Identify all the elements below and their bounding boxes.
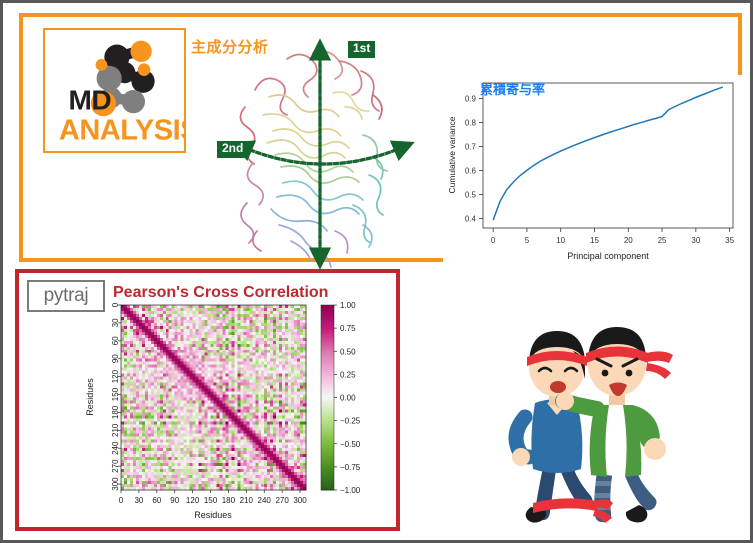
variance-plot-frame	[483, 83, 733, 228]
svg-text:150: 150	[111, 387, 120, 401]
variance-y-tick-labels: 0.40.50.60.70.80.9	[465, 95, 483, 224]
left-person	[512, 331, 593, 523]
svg-text:30: 30	[691, 236, 700, 245]
svg-text:10: 10	[556, 236, 565, 245]
svg-text:120: 120	[186, 496, 200, 505]
svg-text:0.8: 0.8	[465, 119, 477, 128]
variance-x-tick-labels: 05101520253035	[491, 228, 735, 245]
pca-panel: MD ANALYSIS 主成分分析	[19, 13, 742, 262]
svg-text:0.00: 0.00	[340, 394, 356, 403]
second-pc-label: 2nd	[217, 141, 248, 158]
svg-text:180: 180	[111, 405, 120, 419]
svg-text:300: 300	[111, 477, 120, 491]
cumulative-variance-jp-label: 累積寄与率	[480, 79, 545, 98]
svg-text:30: 30	[111, 318, 120, 327]
svg-text:0: 0	[111, 302, 120, 307]
mdanalysis-analysis-text: ANALYSIS	[59, 114, 184, 146]
svg-text:60: 60	[111, 336, 120, 345]
heatmap-y-axis-label: Residues	[85, 378, 95, 416]
svg-text:150: 150	[204, 496, 218, 505]
svg-text:0.5: 0.5	[465, 190, 477, 199]
svg-text:−0.75: −0.75	[340, 463, 361, 472]
svg-text:1.00: 1.00	[340, 301, 356, 310]
svg-text:0.75: 0.75	[340, 324, 356, 333]
svg-text:0.4: 0.4	[465, 214, 477, 223]
svg-text:0.7: 0.7	[465, 143, 477, 152]
cumulative-variance-chart: 0.40.50.60.70.80.9 05101520253035 Princi…	[443, 75, 753, 267]
svg-text:90: 90	[170, 496, 179, 505]
svg-text:210: 210	[240, 496, 254, 505]
svg-text:−1.00: −1.00	[340, 486, 361, 495]
svg-text:0: 0	[119, 496, 124, 505]
svg-text:120: 120	[111, 369, 120, 383]
heatmap-cells	[121, 305, 306, 490]
svg-text:0.25: 0.25	[340, 370, 356, 379]
svg-text:90: 90	[111, 354, 120, 363]
svg-text:270: 270	[275, 496, 289, 505]
svg-text:−0.25: −0.25	[340, 417, 361, 426]
right-person-fist	[644, 438, 666, 460]
svg-text:270: 270	[111, 459, 120, 473]
three-legged-race-illustration	[473, 299, 718, 531]
first-pc-label: 1st	[348, 41, 375, 58]
svg-text:0.9: 0.9	[465, 95, 477, 104]
svg-text:240: 240	[258, 496, 272, 505]
svg-text:0.6: 0.6	[465, 166, 477, 175]
svg-text:60: 60	[152, 496, 161, 505]
mdanalysis-md-text: MD	[69, 84, 112, 115]
svg-text:35: 35	[725, 236, 734, 245]
mdanalysis-logo: MD ANALYSIS	[43, 28, 186, 153]
cross-correlation-heatmap: 0306090120150180210240270300 03060901201…	[81, 299, 381, 527]
heatmap-colorbar	[321, 305, 334, 491]
svg-text:25: 25	[658, 236, 667, 245]
svg-text:15: 15	[590, 236, 599, 245]
svg-text:5: 5	[525, 236, 530, 245]
heatmap-y-tick-labels: 0306090120150180210240270300	[111, 302, 121, 490]
svg-text:0.50: 0.50	[340, 347, 356, 356]
svg-text:0: 0	[491, 236, 496, 245]
slide-canvas: MD ANALYSIS 主成分分析	[0, 0, 753, 543]
variance-x-axis-label: Principal component	[567, 251, 649, 261]
heatmap-x-axis-label: Residues	[194, 510, 232, 520]
svg-text:240: 240	[111, 441, 120, 455]
left-person-fist	[512, 448, 530, 466]
svg-text:−0.50: −0.50	[340, 440, 361, 449]
svg-text:20: 20	[624, 236, 633, 245]
heatmap-x-tick-labels: 0306090120150180210240270300	[119, 490, 307, 505]
svg-text:210: 210	[111, 423, 120, 437]
svg-text:180: 180	[222, 496, 236, 505]
svg-text:30: 30	[134, 496, 143, 505]
variance-y-axis-label: Cumulative variance	[447, 116, 457, 193]
heatmap-colorbar-labels: 1.000.750.500.250.00−0.25−0.50−0.75−1.00	[334, 301, 361, 495]
left-person-mouth	[550, 381, 566, 393]
svg-text:300: 300	[293, 496, 307, 505]
